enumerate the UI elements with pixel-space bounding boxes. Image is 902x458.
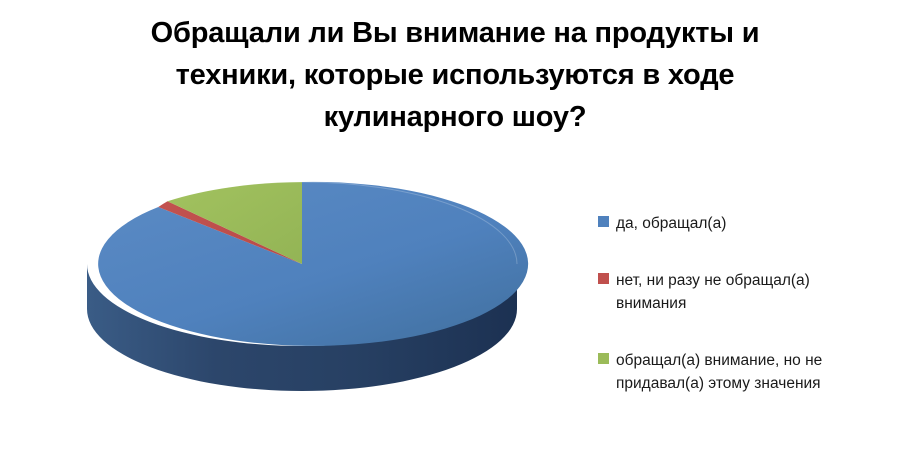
legend-label-ne-pridaval: обращал(а) внимание, но не придавал(а) э… xyxy=(616,349,822,395)
pie-svg xyxy=(60,165,560,445)
chart-title-line-1: Обращали ли Вы внимание на продукты и xyxy=(60,12,850,54)
legend-label-da: да, обращал(а) xyxy=(616,212,726,235)
legend-item-ne-pridaval[interactable]: обращал(а) внимание, но не придавал(а) э… xyxy=(598,349,898,395)
pie-chart-figure: Обращали ли Вы внимание на продукты и те… xyxy=(0,0,902,458)
chart-title-line-2: техники, которые используются в ходе xyxy=(60,54,850,96)
pie-plot-area xyxy=(60,165,560,445)
legend-swatch-icon-net xyxy=(598,273,609,284)
chart-title: Обращали ли Вы внимание на продукты и те… xyxy=(60,12,850,138)
chart-legend: да, обращал(а) нет, ни разу не обращал(а… xyxy=(598,212,898,429)
legend-label-net: нет, ни разу не обращал(а) внимания xyxy=(616,269,810,315)
chart-title-line-3: кулинарного шоу? xyxy=(60,96,850,138)
legend-swatch-icon-ne-pridaval xyxy=(598,353,609,364)
legend-item-da[interactable]: да, обращал(а) xyxy=(598,212,898,235)
legend-item-net[interactable]: нет, ни разу не обращал(а) внимания xyxy=(598,269,898,315)
legend-swatch-icon-da xyxy=(598,216,609,227)
